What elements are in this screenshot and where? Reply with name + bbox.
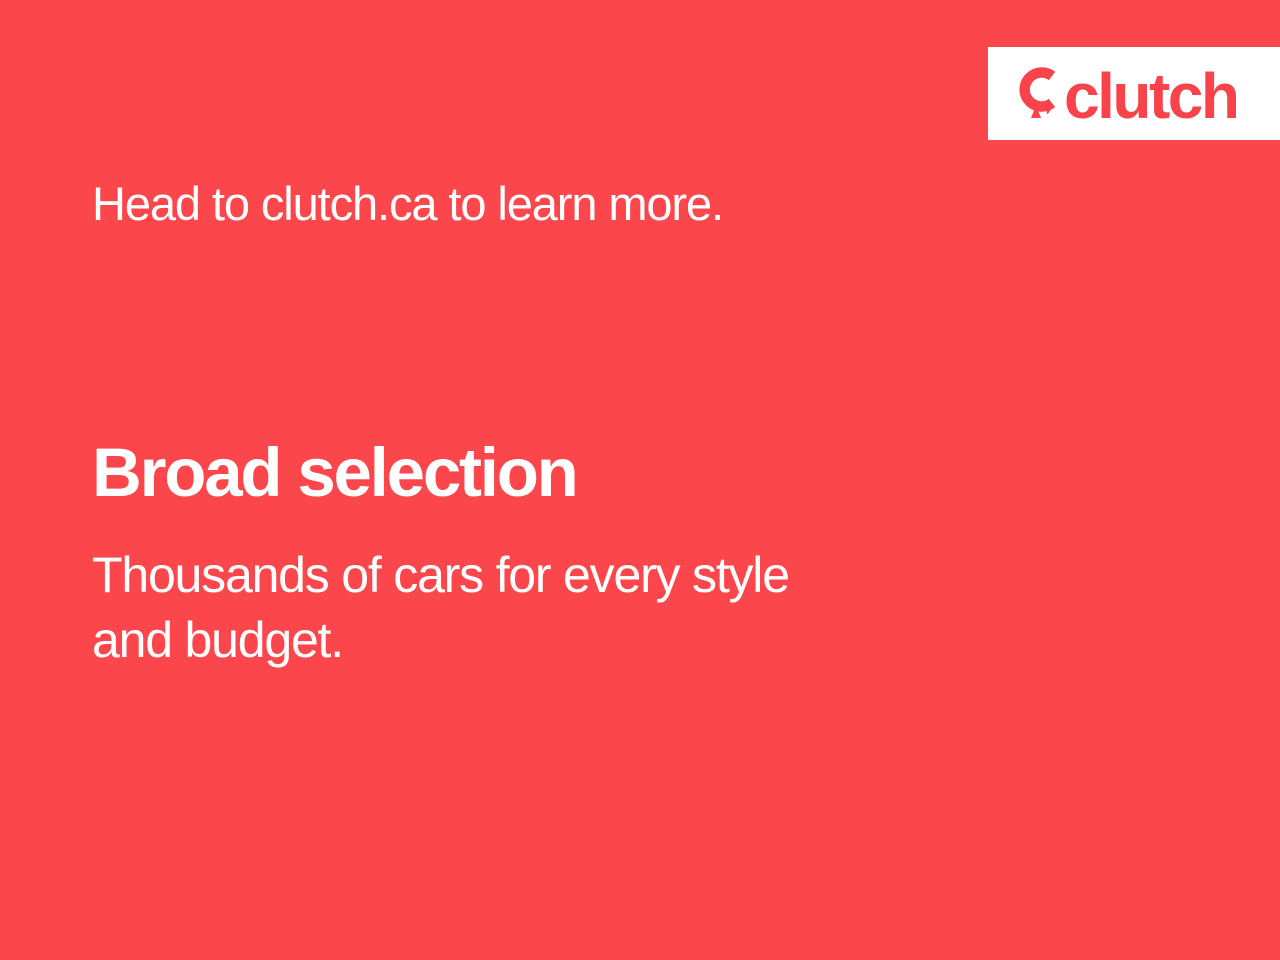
clutch-logo-lockup: clutch: [1016, 61, 1237, 127]
eyebrow-text: Head to clutch.ca to learn more.: [92, 178, 723, 230]
promo-slide: clutch Head to clutch.ca to learn more. …: [0, 0, 1280, 960]
clutch-c-mark-icon: [1016, 64, 1062, 120]
clutch-wordmark: clutch: [1064, 64, 1237, 128]
brand-logo-plaque: clutch: [988, 47, 1280, 140]
subhead-line-1: Thousands of cars for every style: [92, 543, 1052, 608]
page-title: Broad selection: [92, 437, 577, 509]
subhead-text: Thousands of cars for every style and bu…: [92, 543, 1052, 673]
subhead-line-2: and budget.: [92, 608, 1052, 673]
